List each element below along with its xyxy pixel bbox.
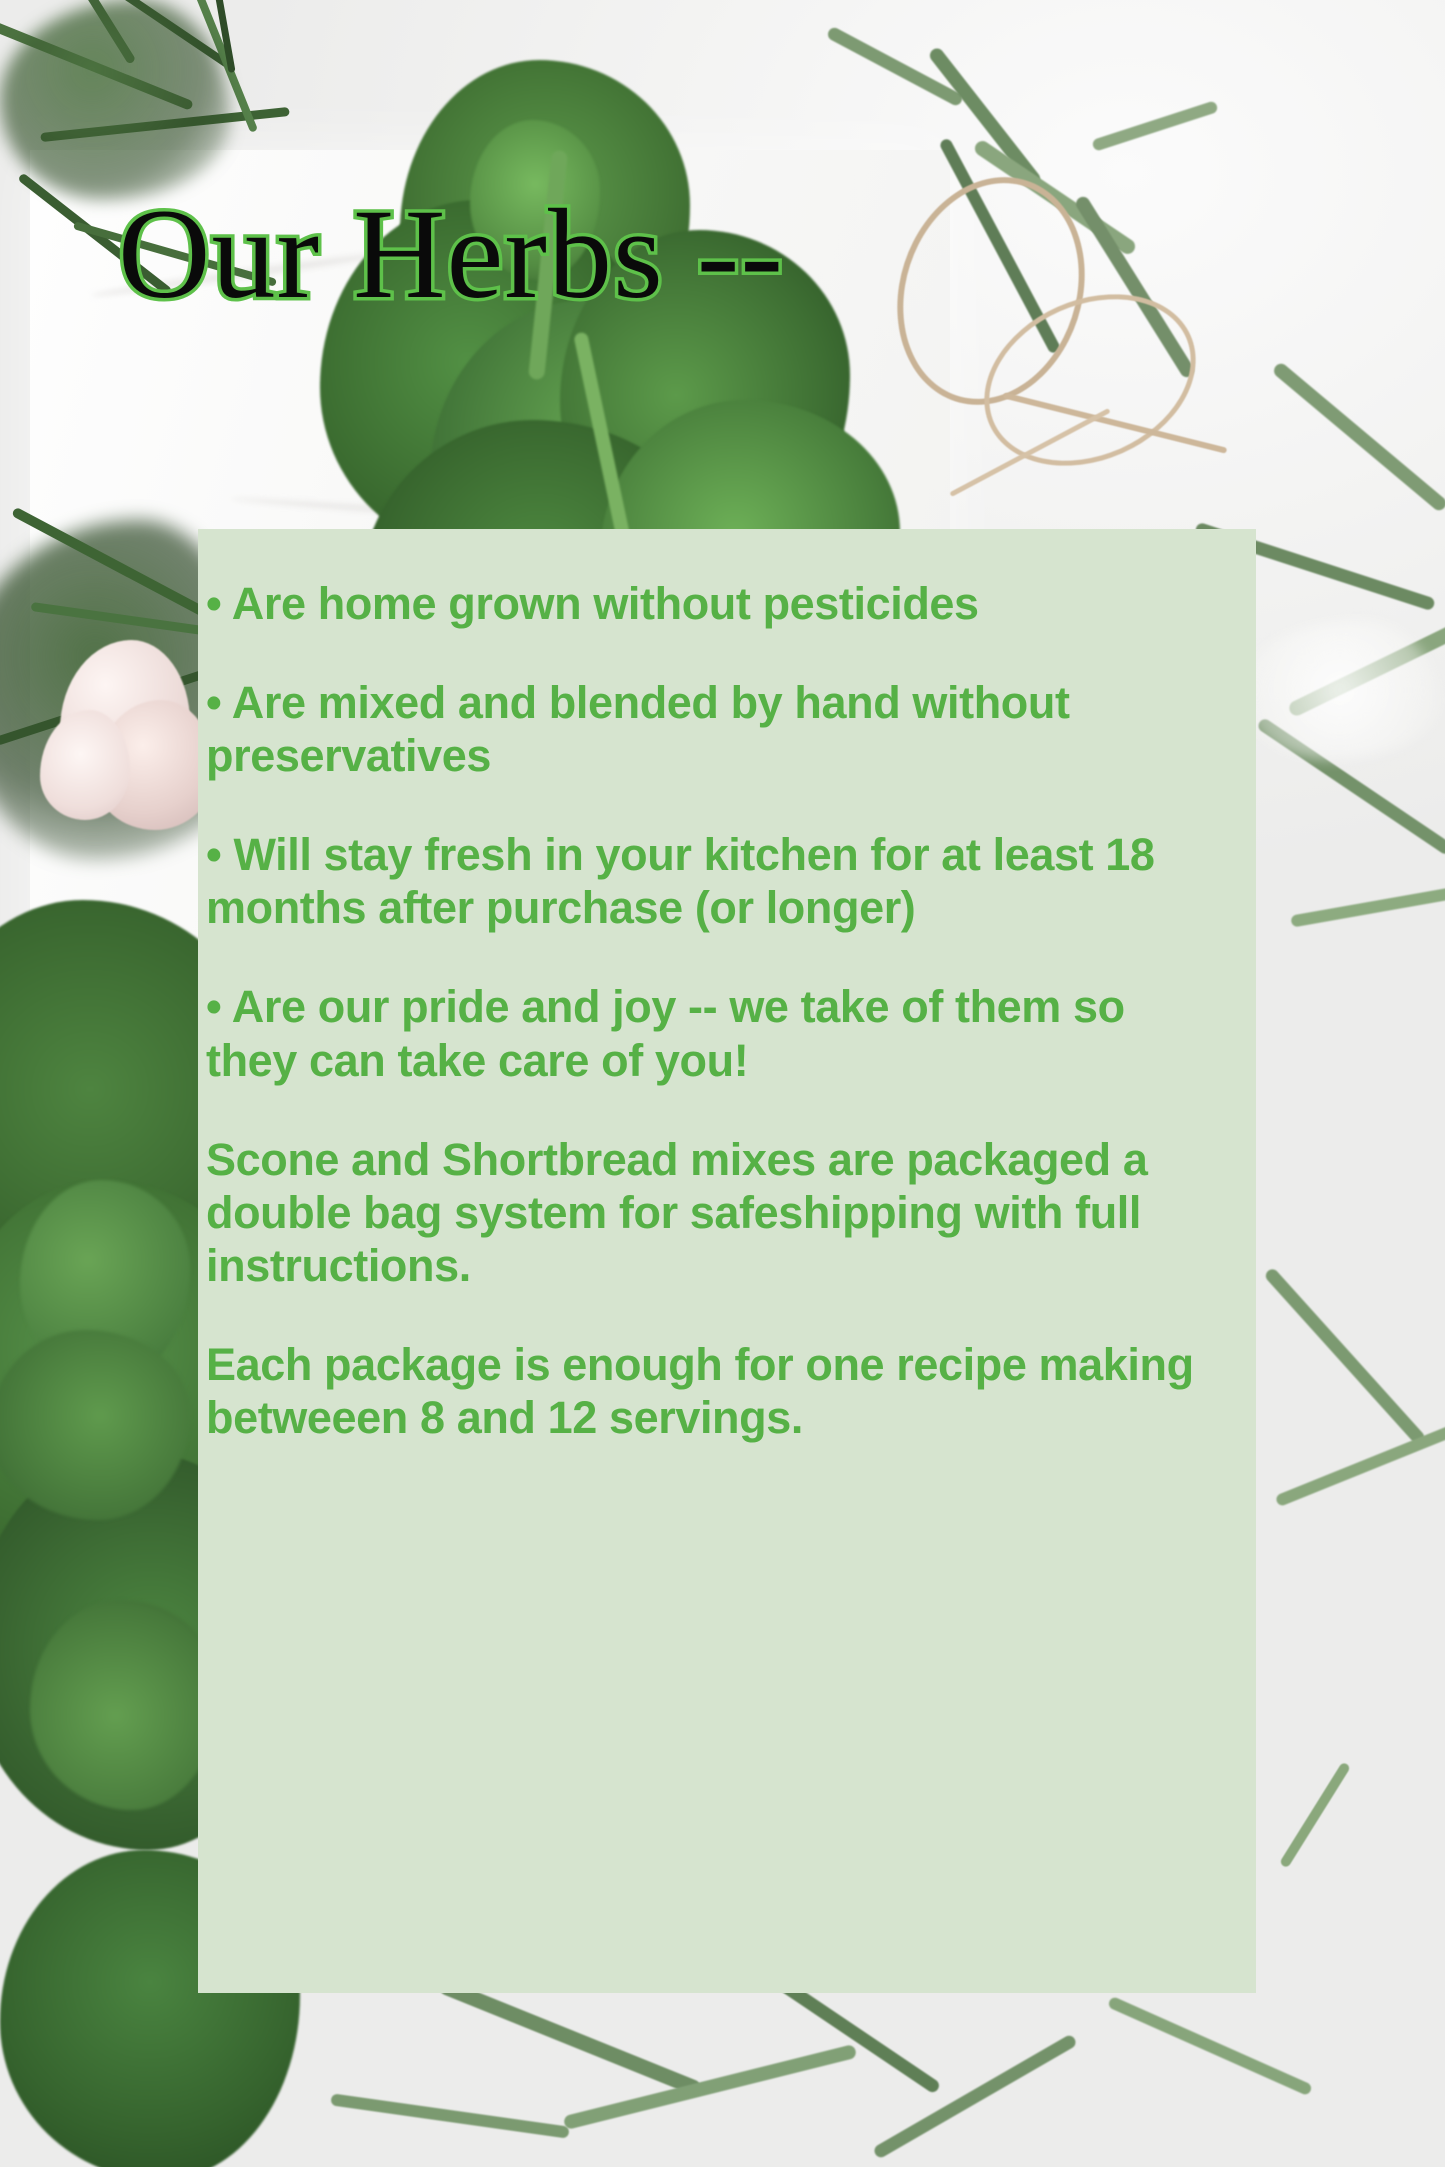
note-servings: Each package is enough for one recipe ma… xyxy=(206,1338,1212,1444)
content-panel: • Are home grown without pesticides • Ar… xyxy=(198,529,1256,1993)
bullet-home-grown: • Are home grown without pesticides xyxy=(206,577,1212,630)
bullet-mixed-by-hand: • Are mixed and blended by hand without … xyxy=(206,676,1212,782)
page-title: Our Herbs -- xyxy=(118,190,784,318)
poster-canvas: Our Herbs -- • Are home grown without pe… xyxy=(0,0,1445,2167)
bullet-pride-and-joy: • Are our pride and joy -- we take of th… xyxy=(206,980,1212,1086)
note-packaging: Scone and Shortbread mixes are packaged … xyxy=(206,1133,1212,1292)
bullet-stay-fresh: • Will stay fresh in your kitchen for at… xyxy=(206,828,1212,934)
